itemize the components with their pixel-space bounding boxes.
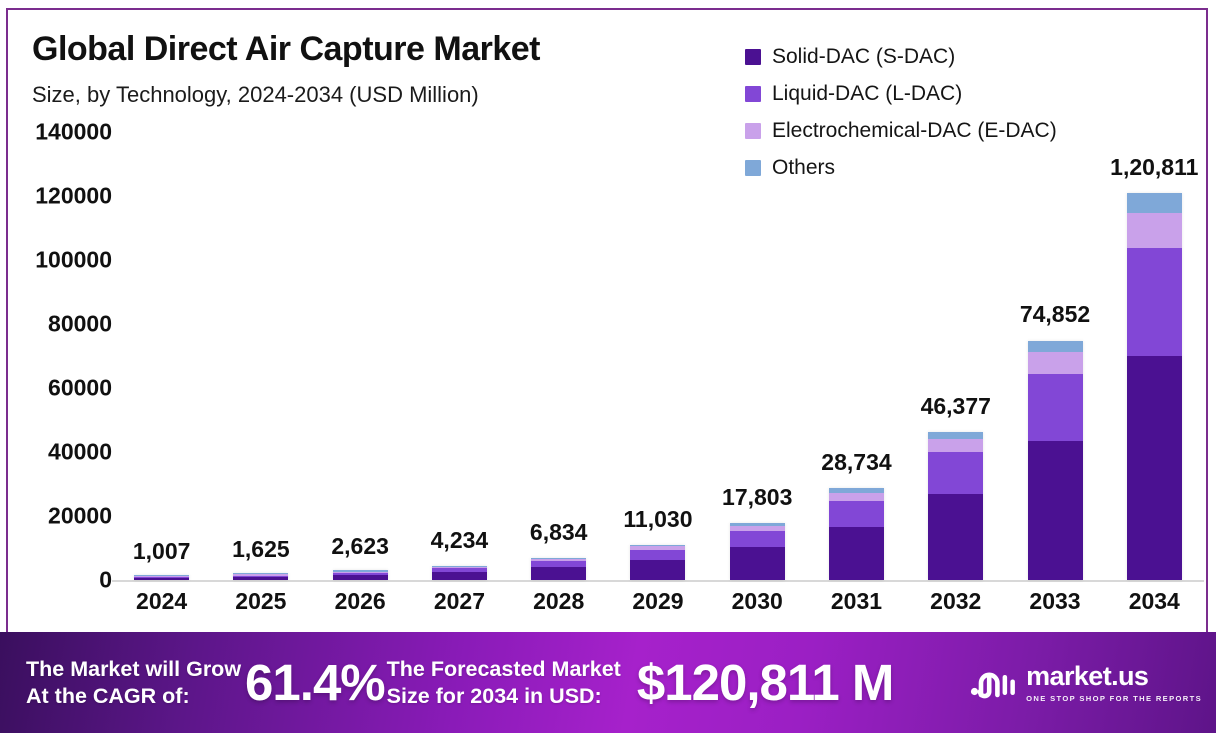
forecast-caption: The Forecasted Market Size for 2034 in U… (387, 656, 621, 708)
bar-segment[interactable] (829, 527, 884, 580)
x-axis-label: 2029 (630, 588, 685, 615)
bar-stack[interactable] (233, 573, 288, 580)
legend-label-solid-dac: Solid-DAC (S-DAC) (772, 45, 955, 69)
x-axis-label: 2032 (928, 588, 983, 615)
cagr-caption-line2: At the CAGR of: (26, 683, 241, 709)
bar-segment[interactable] (1127, 193, 1182, 212)
bar-segment[interactable] (829, 493, 884, 501)
bar-segment[interactable] (233, 577, 288, 580)
x-axis-label: 2028 (531, 588, 586, 615)
bar-segment[interactable] (1127, 356, 1182, 580)
x-axis-label: 2026 (333, 588, 388, 615)
legend-item-solid-dac[interactable]: Solid-DAC (S-DAC) (745, 38, 1057, 75)
x-axis-labels: 2024202520262027202820292030203120322033… (112, 588, 1204, 615)
legend-label-liquid-dac: Liquid-DAC (L-DAC) (772, 82, 962, 106)
bar-stack[interactable] (928, 432, 983, 580)
bar-segment[interactable] (928, 494, 983, 580)
chart-title: Global Direct Air Capture Market (32, 30, 540, 69)
bar-value-label: 11,030 (623, 506, 692, 533)
bar-group[interactable]: 74,852 (1028, 132, 1083, 580)
bar-segment[interactable] (829, 501, 884, 527)
bar-group[interactable]: 1,20,811 (1127, 132, 1182, 580)
bar-stack[interactable] (531, 558, 586, 580)
x-axis-line (112, 580, 1204, 582)
x-axis-label: 2033 (1028, 588, 1083, 615)
bar-group[interactable]: 6,834 (531, 132, 586, 580)
bar-segment[interactable] (333, 575, 388, 580)
bar-segment[interactable] (1028, 352, 1083, 374)
bar-value-label: 1,007 (133, 538, 191, 565)
x-axis-label: 2031 (829, 588, 884, 615)
market-us-logo-icon (970, 666, 1018, 700)
x-axis-label: 2024 (134, 588, 189, 615)
bar-value-label: 46,377 (921, 393, 991, 420)
bar-value-label: 1,20,811 (1110, 154, 1198, 181)
bar-group[interactable]: 17,803 (730, 132, 785, 580)
bar-group[interactable]: 1,625 (233, 132, 288, 580)
bar-value-label: 74,852 (1020, 301, 1090, 328)
chart-subtitle: Size, by Technology, 2024-2034 (USD Mill… (32, 82, 479, 108)
bar-value-label: 1,625 (232, 536, 290, 563)
bar-stack[interactable] (1028, 341, 1083, 581)
bar-segment[interactable] (630, 550, 685, 560)
bar-group[interactable]: 2,623 (333, 132, 388, 580)
bar-value-label: 17,803 (722, 484, 792, 511)
y-axis-tick: 100000 (35, 247, 112, 274)
market-us-logo[interactable]: market.us ONE STOP SHOP FOR THE REPORTS (970, 663, 1202, 703)
x-axis-label: 2027 (432, 588, 487, 615)
bar-segment[interactable] (1127, 248, 1182, 356)
forecast-value: $120,811 M (637, 653, 894, 712)
x-axis-label: 2034 (1127, 588, 1182, 615)
bar-segment[interactable] (1028, 374, 1083, 441)
bar-group[interactable]: 1,007 (134, 132, 189, 580)
bar-segment[interactable] (730, 531, 785, 547)
bar-stack[interactable] (333, 570, 388, 580)
chart-frame: Global Direct Air Capture Market Size, b… (6, 8, 1208, 727)
bar-segment[interactable] (928, 452, 983, 494)
bar-segment[interactable] (432, 572, 487, 580)
bar-segment[interactable] (134, 578, 189, 580)
logo-tagline: ONE STOP SHOP FOR THE REPORTS (1026, 694, 1202, 703)
bar-stack[interactable] (1127, 193, 1182, 580)
bar-group[interactable]: 28,734 (829, 132, 884, 580)
y-axis-tick: 40000 (48, 439, 112, 466)
bar-segment[interactable] (630, 560, 685, 580)
x-axis-label: 2025 (233, 588, 288, 615)
bar-stack[interactable] (829, 488, 884, 580)
legend-item-liquid-dac[interactable]: Liquid-DAC (L-DAC) (745, 75, 1057, 112)
bar-value-label: 2,623 (331, 533, 389, 560)
logo-wordmark: market.us (1026, 663, 1148, 690)
bar-segment[interactable] (928, 439, 983, 452)
y-axis-tick: 140000 (35, 119, 112, 146)
legend-swatch-liquid-dac (745, 86, 761, 102)
bar-segment[interactable] (928, 432, 983, 439)
bar-series-container: 1,0071,6252,6234,2346,83411,03017,80328,… (112, 132, 1204, 580)
plot-area: 020000400006000080000100000120000140000 … (14, 132, 1204, 582)
x-axis-label: 2030 (730, 588, 785, 615)
cagr-value: 61.4% (245, 653, 385, 712)
y-axis-tick: 60000 (48, 375, 112, 402)
cagr-caption-line1: The Market will Grow (26, 656, 241, 682)
legend-swatch-solid-dac (745, 49, 761, 65)
bar-stack[interactable] (730, 523, 785, 580)
y-axis-tick: 120000 (35, 183, 112, 210)
bar-stack[interactable] (432, 566, 487, 580)
bar-segment[interactable] (1028, 441, 1083, 580)
bar-group[interactable]: 46,377 (928, 132, 983, 580)
bar-stack[interactable] (630, 545, 685, 580)
y-axis-tick: 20000 (48, 503, 112, 530)
bar-segment[interactable] (531, 567, 586, 580)
bar-value-label: 28,734 (821, 449, 891, 476)
bar-value-label: 4,234 (431, 527, 489, 554)
bar-segment[interactable] (1127, 213, 1182, 248)
bar-segment[interactable] (1028, 341, 1083, 353)
cagr-caption: The Market will Grow At the CAGR of: (26, 656, 241, 708)
y-axis-tick: 0 (99, 567, 112, 594)
forecast-caption-line1: The Forecasted Market (387, 656, 621, 682)
bar-group[interactable]: 4,234 (432, 132, 487, 580)
bar-group[interactable]: 11,030 (630, 132, 685, 580)
forecast-caption-line2: Size for 2034 in USD: (387, 683, 621, 709)
bar-stack[interactable] (134, 575, 189, 580)
footer-banner: The Market will Grow At the CAGR of: 61.… (0, 632, 1216, 733)
y-axis-tick: 80000 (48, 311, 112, 338)
bar-segment[interactable] (730, 547, 785, 580)
bar-value-label: 6,834 (530, 519, 588, 546)
